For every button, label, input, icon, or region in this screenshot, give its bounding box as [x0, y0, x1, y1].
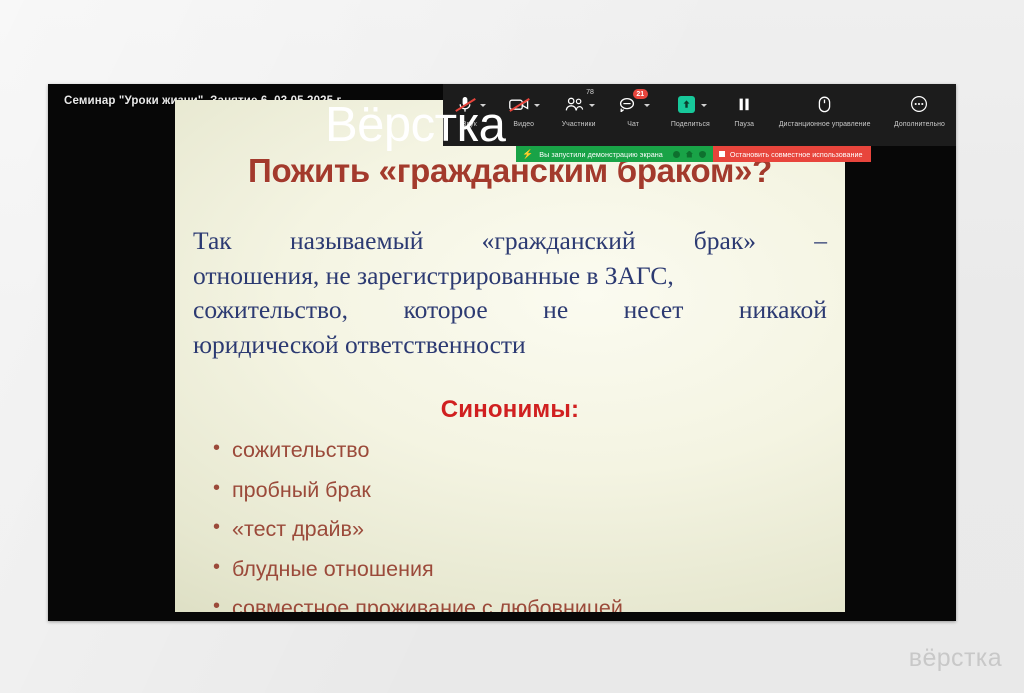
chevron-down-icon[interactable]: [644, 104, 650, 107]
toolbar-button-share-screen[interactable]: Поделиться: [660, 91, 721, 128]
camera-off-icon: [507, 93, 531, 115]
chevron-down-icon[interactable]: [589, 104, 595, 107]
screen-share-banner: ⚡ Вы запустили демонстрацию экрана Остан…: [516, 146, 871, 162]
slide-body-line: юридической ответственности: [193, 328, 827, 363]
share-screen-icon: [674, 93, 698, 115]
toolbar-label: Дополнительно: [894, 119, 945, 128]
toolbar-button-video[interactable]: Видео: [497, 91, 551, 128]
list-item: блудные отношения: [213, 557, 835, 582]
toolbar-label: Дистанционное управление: [778, 119, 870, 128]
share-status-bar: ⚡ Вы запустили демонстрацию экрана: [516, 146, 713, 162]
synonyms-list: сожительство пробный брак «тест драйв» б…: [213, 438, 835, 612]
microphone-off-icon: [453, 93, 477, 115]
toolbar-label: Пауза: [734, 119, 754, 128]
chevron-down-icon[interactable]: [701, 104, 707, 107]
share-banner-icons: [673, 151, 706, 158]
chevron-down-icon[interactable]: [534, 104, 540, 107]
toolbar-label: Участники: [561, 119, 595, 128]
slide-body-line: отношения, не зарегистрированные в ЗАГС,: [193, 259, 827, 294]
toolbar-button-remote-control[interactable]: Дистанционное управление: [766, 91, 882, 128]
share-bolt-icon: ⚡: [522, 149, 533, 160]
share-square: [678, 96, 695, 113]
home-icon[interactable]: [686, 151, 693, 158]
toolbar-label: Чат: [627, 119, 639, 128]
list-item: «тест драйв»: [213, 517, 835, 542]
list-item: совместное проживание с любовницей: [213, 596, 835, 612]
toolbar-label: Звук: [463, 119, 478, 128]
toolbar-button-chat[interactable]: 21 Чат: [606, 91, 660, 128]
slide-body-line: Так называемый «гражданский брак» –: [193, 224, 827, 259]
record-dot-icon[interactable]: [673, 151, 680, 158]
slide-body-paragraph: Так называемый «гражданский брак» – отно…: [193, 224, 827, 363]
synonyms-heading: Синонимы:: [175, 396, 845, 424]
share-status-text: Вы запустили демонстрацию экрана: [539, 150, 663, 159]
pause-icon: [732, 93, 756, 115]
toolbar-button-pause[interactable]: Пауза: [721, 91, 766, 128]
toolbar-label: Видео: [513, 119, 534, 128]
more-ellipsis-icon: [907, 93, 931, 115]
presentation-slide: Пожить «гражданским браком»? Так называе…: [175, 100, 845, 612]
zoom-meeting-toolbar: Звук Видео: [443, 84, 956, 146]
toolbar-label: Поделиться: [671, 119, 710, 128]
chevron-down-icon[interactable]: [480, 104, 486, 107]
stop-share-button[interactable]: Остановить совместное использование: [713, 146, 871, 162]
slide-body-line: сожительство, которое не несет никакой: [193, 293, 827, 328]
toolbar-button-participants[interactable]: 78 Участники: [550, 91, 606, 128]
mouse-icon: [812, 93, 836, 115]
pin-icon[interactable]: [699, 151, 706, 158]
chat-unread-badge: 21: [633, 89, 648, 99]
stop-share-label: Остановить совместное использование: [730, 150, 863, 159]
participants-count: 78: [586, 89, 594, 96]
list-item: пробный брак: [213, 478, 835, 503]
toolbar-button-more[interactable]: Дополнительно: [882, 91, 956, 128]
chat-icon: 21: [617, 93, 641, 115]
stop-square-icon: [719, 151, 725, 157]
participants-icon: 78: [562, 93, 586, 115]
list-item: сожительство: [213, 438, 835, 463]
toolbar-button-audio[interactable]: Звук: [443, 91, 497, 128]
screen-share-recording-frame: Семинар "Уроки жизни". Занятие 6. 03.05.…: [48, 84, 956, 621]
